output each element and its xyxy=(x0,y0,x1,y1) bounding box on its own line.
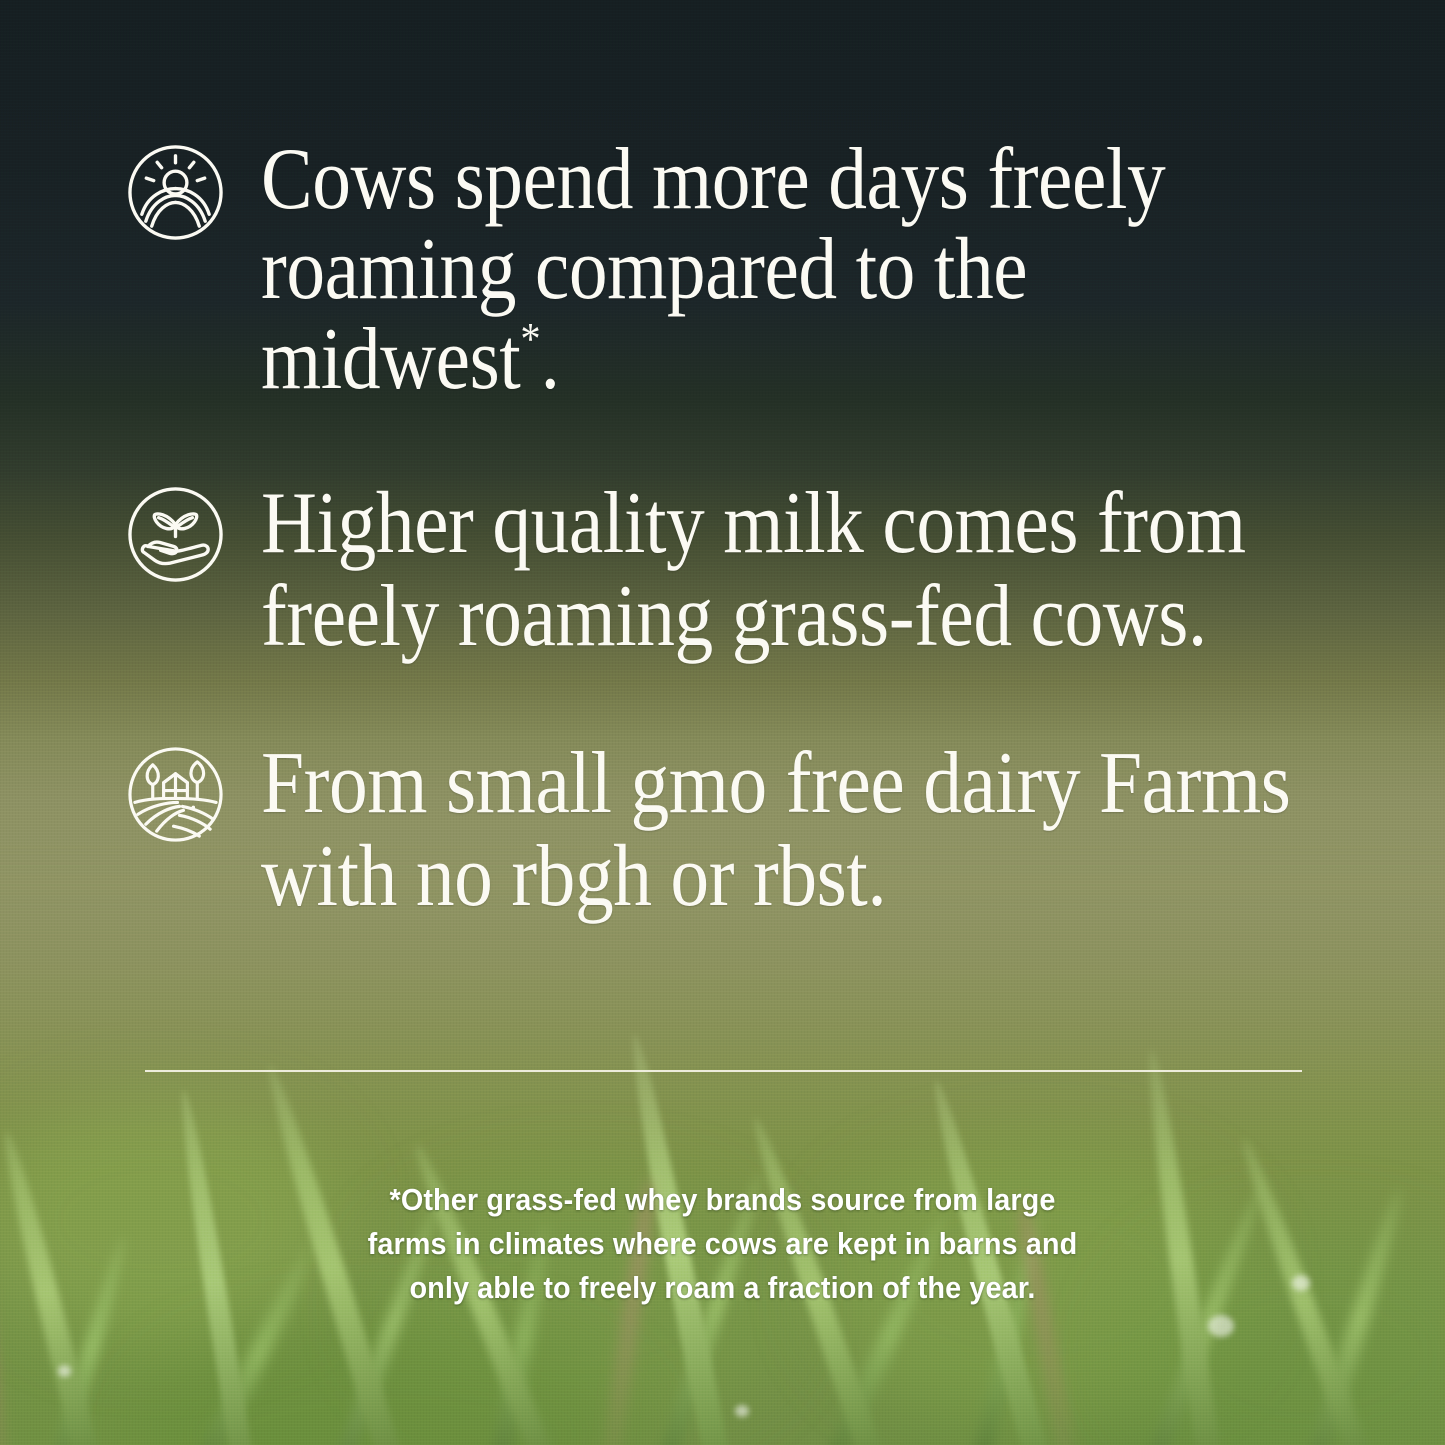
farm-barn-fields-icon xyxy=(126,745,225,844)
benefit-item-farms: From small gmo free dairy Farms with no … xyxy=(126,737,1445,924)
content-layer: Cows spend more days freely roaming comp… xyxy=(0,0,1445,1445)
benefit-item-roaming: Cows spend more days freely roaming comp… xyxy=(126,135,1445,404)
benefit-headline-text: Cows spend more days freely roaming comp… xyxy=(261,131,1165,408)
footnote-text: *Other grass-fed whey brands source from… xyxy=(51,1178,1395,1310)
footnote-marker: * xyxy=(520,313,540,364)
benefit-item-quality: Higher quality milk comes from freely ro… xyxy=(126,477,1445,664)
benefit-headline: Higher quality milk comes from freely ro… xyxy=(261,477,1303,664)
benefit-headline: Cows spend more days freely roaming comp… xyxy=(261,135,1303,404)
section-divider xyxy=(145,1070,1302,1072)
hand-holding-sprout-icon xyxy=(126,485,225,584)
marketing-infographic: Cows spend more days freely roaming comp… xyxy=(0,0,1445,1445)
benefit-headline: From small gmo free dairy Farms with no … xyxy=(261,737,1303,924)
sun-over-fields-icon xyxy=(126,143,225,242)
benefit-headline-period: . xyxy=(541,311,560,408)
